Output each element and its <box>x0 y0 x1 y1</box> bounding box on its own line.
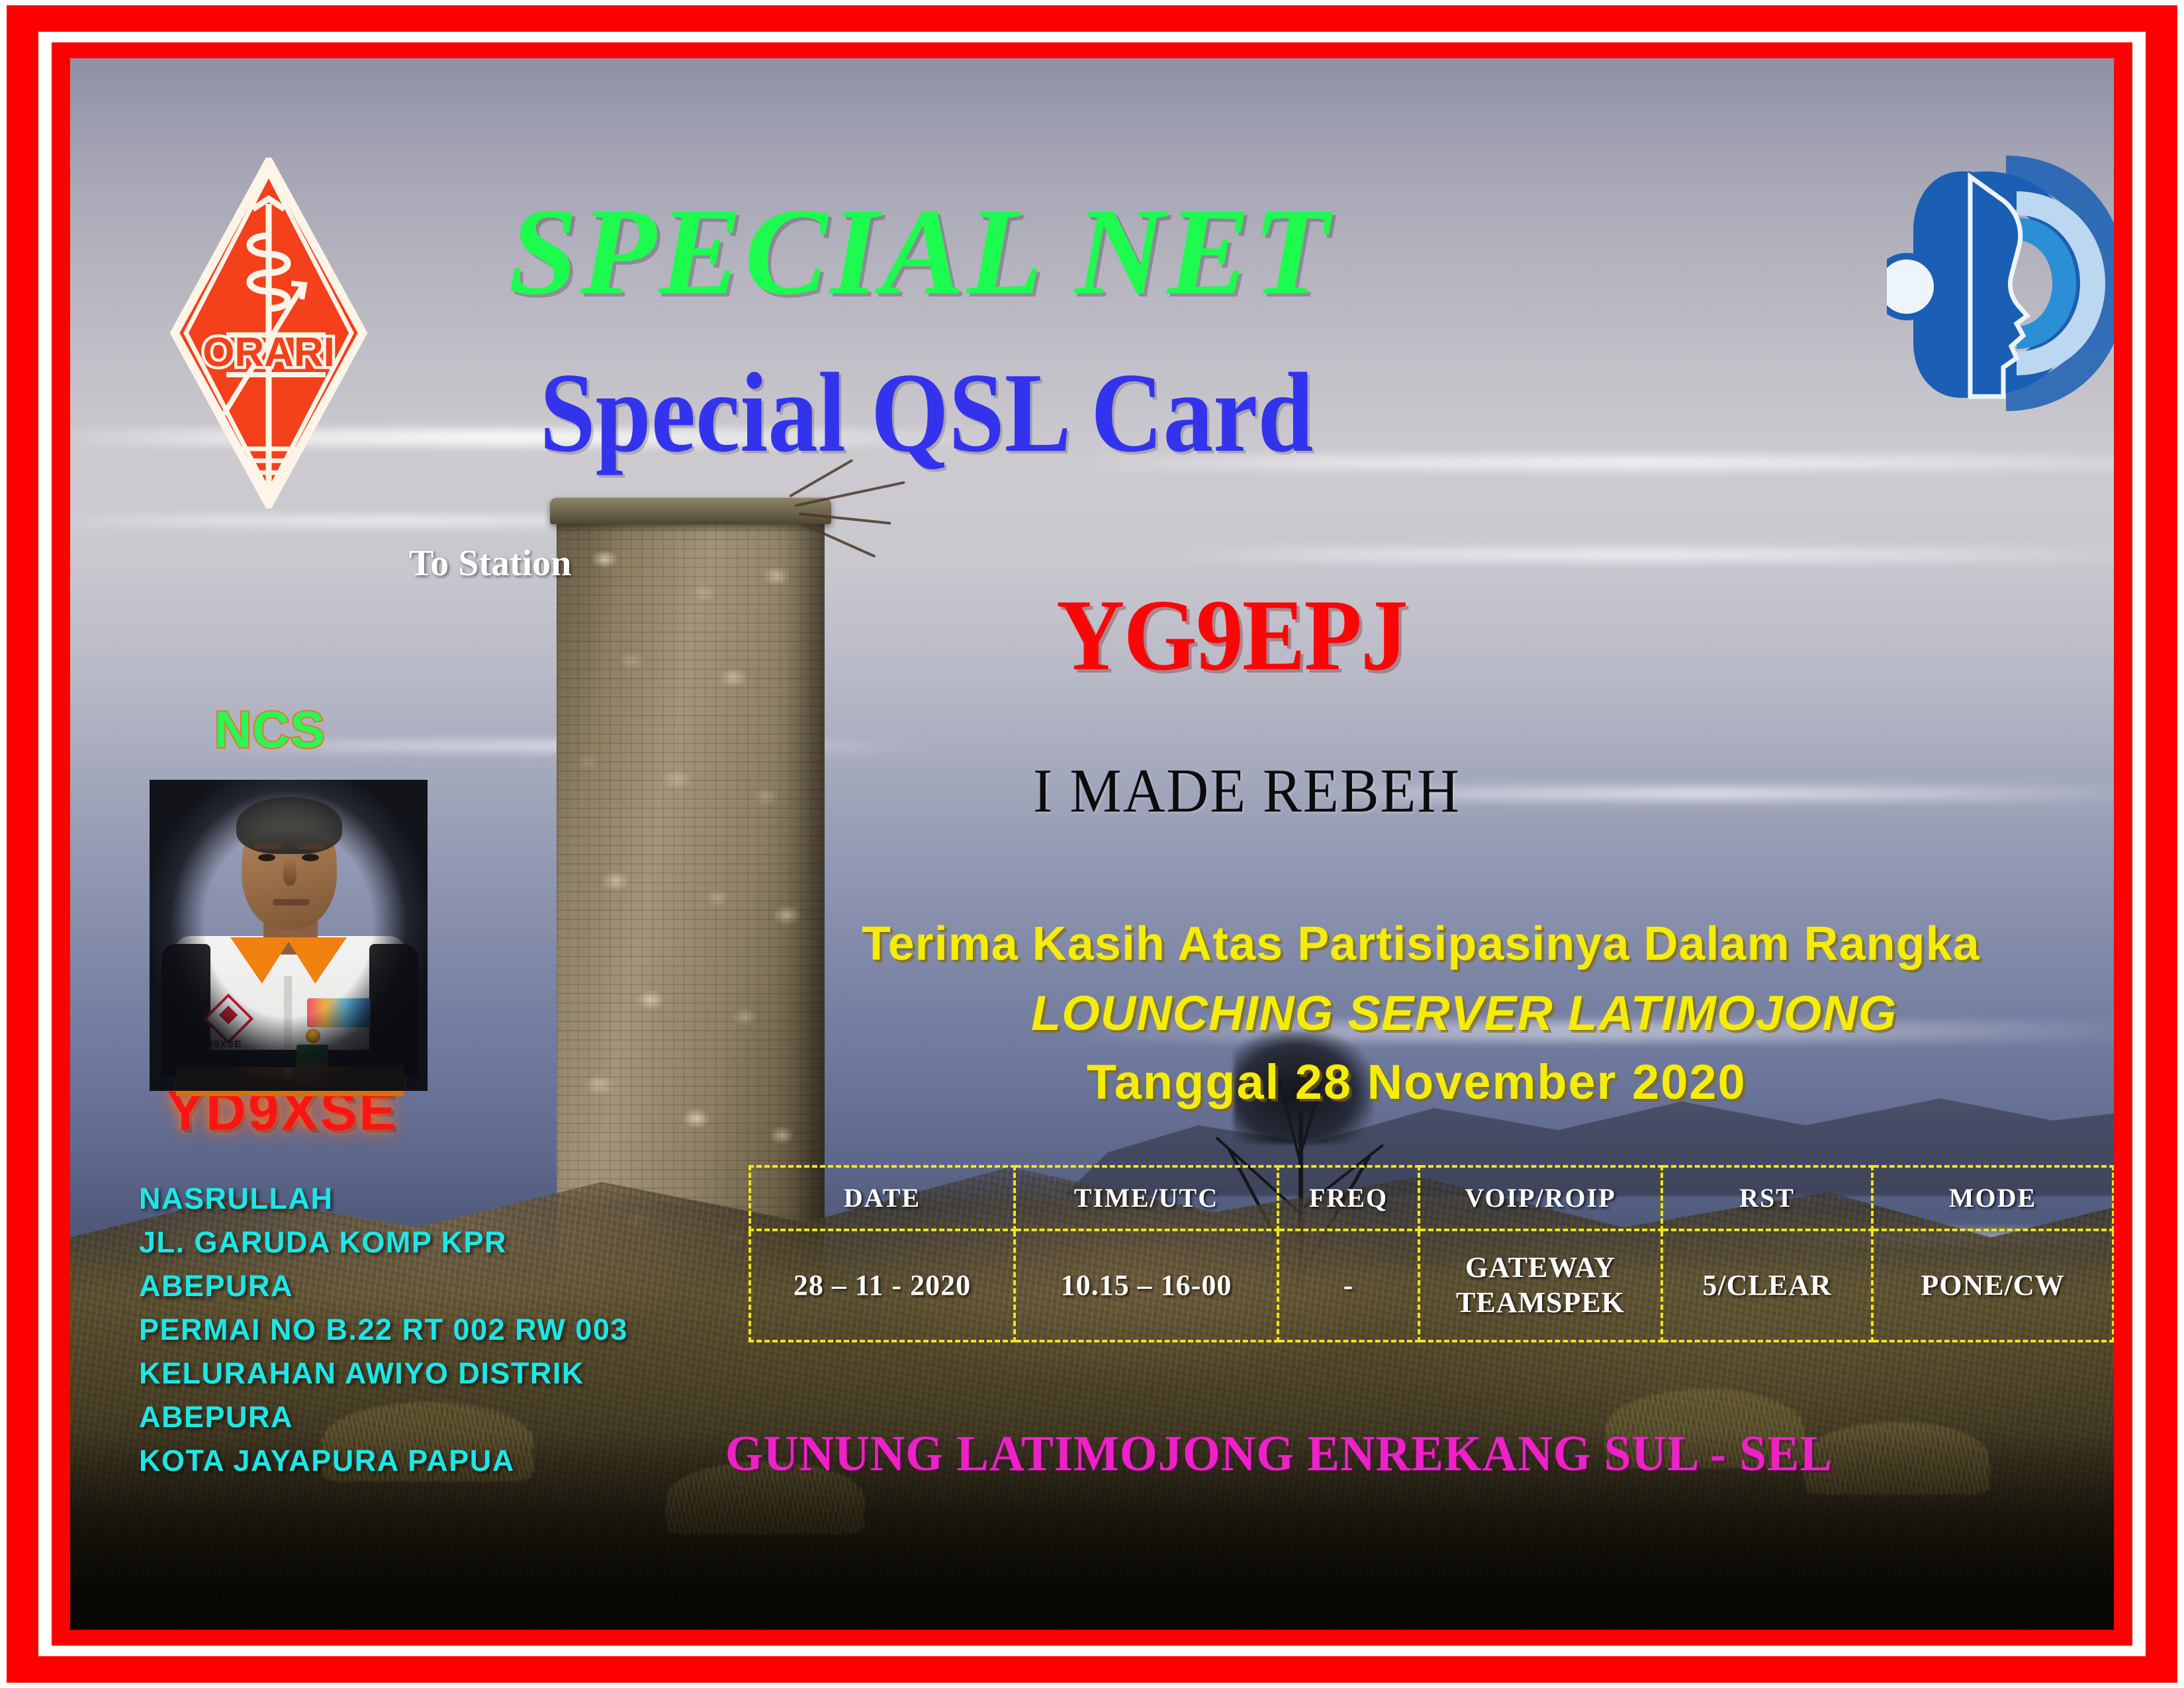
to-station-label: To Station <box>409 545 571 582</box>
cell-rst: 5/CLEAR <box>1662 1230 1872 1341</box>
column-header-voip: VOIP/ROIP <box>1419 1166 1662 1230</box>
column-header-time: TIME/UTC <box>1015 1166 1278 1230</box>
table-row: 28 – 11 - 2020 10.15 – 16-00 - GATEWAY T… <box>750 1230 2113 1341</box>
column-header-date: DATE <box>750 1166 1015 1230</box>
ncs-operator-photo: YD9XSE <box>150 780 428 1091</box>
background-photograph: ORARI <box>70 58 2114 1630</box>
cell-voip: GATEWAY TEAMSPEK <box>1419 1230 1662 1341</box>
qsl-card: ORARI <box>0 0 2184 1688</box>
address-line: KOTA JAYAPURA PAPUA <box>139 1439 628 1483</box>
cell-mode: PONE/CW <box>1872 1230 2113 1341</box>
column-header-mode: MODE <box>1872 1166 2113 1230</box>
photo-vignette <box>150 780 428 1091</box>
address-line: PERMAI NO B.22 RT 002 RW 003 <box>139 1308 628 1352</box>
table-header-row: DATE TIME/UTC FREQ VOIP/ROIP RST MODE <box>750 1166 2113 1230</box>
column-header-rst: RST <box>1662 1166 1872 1230</box>
event-date: Tanggal 28 November 2020 <box>1087 1058 1747 1107</box>
cloud-streak <box>1162 548 2114 561</box>
cell-freq: - <box>1278 1230 1419 1341</box>
column-header-freq: FREQ <box>1278 1166 1419 1230</box>
card-title-special-net: SPECIAL NET <box>70 189 1942 314</box>
address-line: JL. GARUDA KOMP KPR <box>139 1221 628 1264</box>
event-thanks-line: Terima Kasih Atas Partisipasinya Dalam R… <box>862 920 1980 968</box>
card-subtitle-special-qsl-card: Special QSL Card <box>70 356 1826 470</box>
station-address-block: NASRULLAH JL. GARUDA KOMP KPR ABEPURA PE… <box>139 1177 628 1483</box>
event-location: GUNUNG LATIMOJONG ENREKANG SUL - SEL <box>725 1429 1833 1479</box>
address-line: KELURAHAN AWIYO DISTRIK <box>139 1352 628 1395</box>
operator-name: I MADE REBEH <box>1033 760 1461 822</box>
cairn-cap <box>550 498 831 524</box>
cell-date: 28 – 11 - 2020 <box>750 1230 1015 1341</box>
cell-time: 10.15 – 16-00 <box>1015 1230 1278 1341</box>
station-callsign: YG9EPJ <box>1056 585 1407 686</box>
qso-log-table: DATE TIME/UTC FREQ VOIP/ROIP RST MODE 28… <box>749 1165 2114 1342</box>
address-line: NASRULLAH <box>139 1177 628 1221</box>
ncs-label: NCS <box>214 704 326 755</box>
address-line: ABEPURA <box>139 1264 628 1308</box>
address-line: ABEPURA <box>139 1395 628 1439</box>
event-name: LOUNCHING SERVER LATIMOJONG <box>1031 989 1897 1038</box>
